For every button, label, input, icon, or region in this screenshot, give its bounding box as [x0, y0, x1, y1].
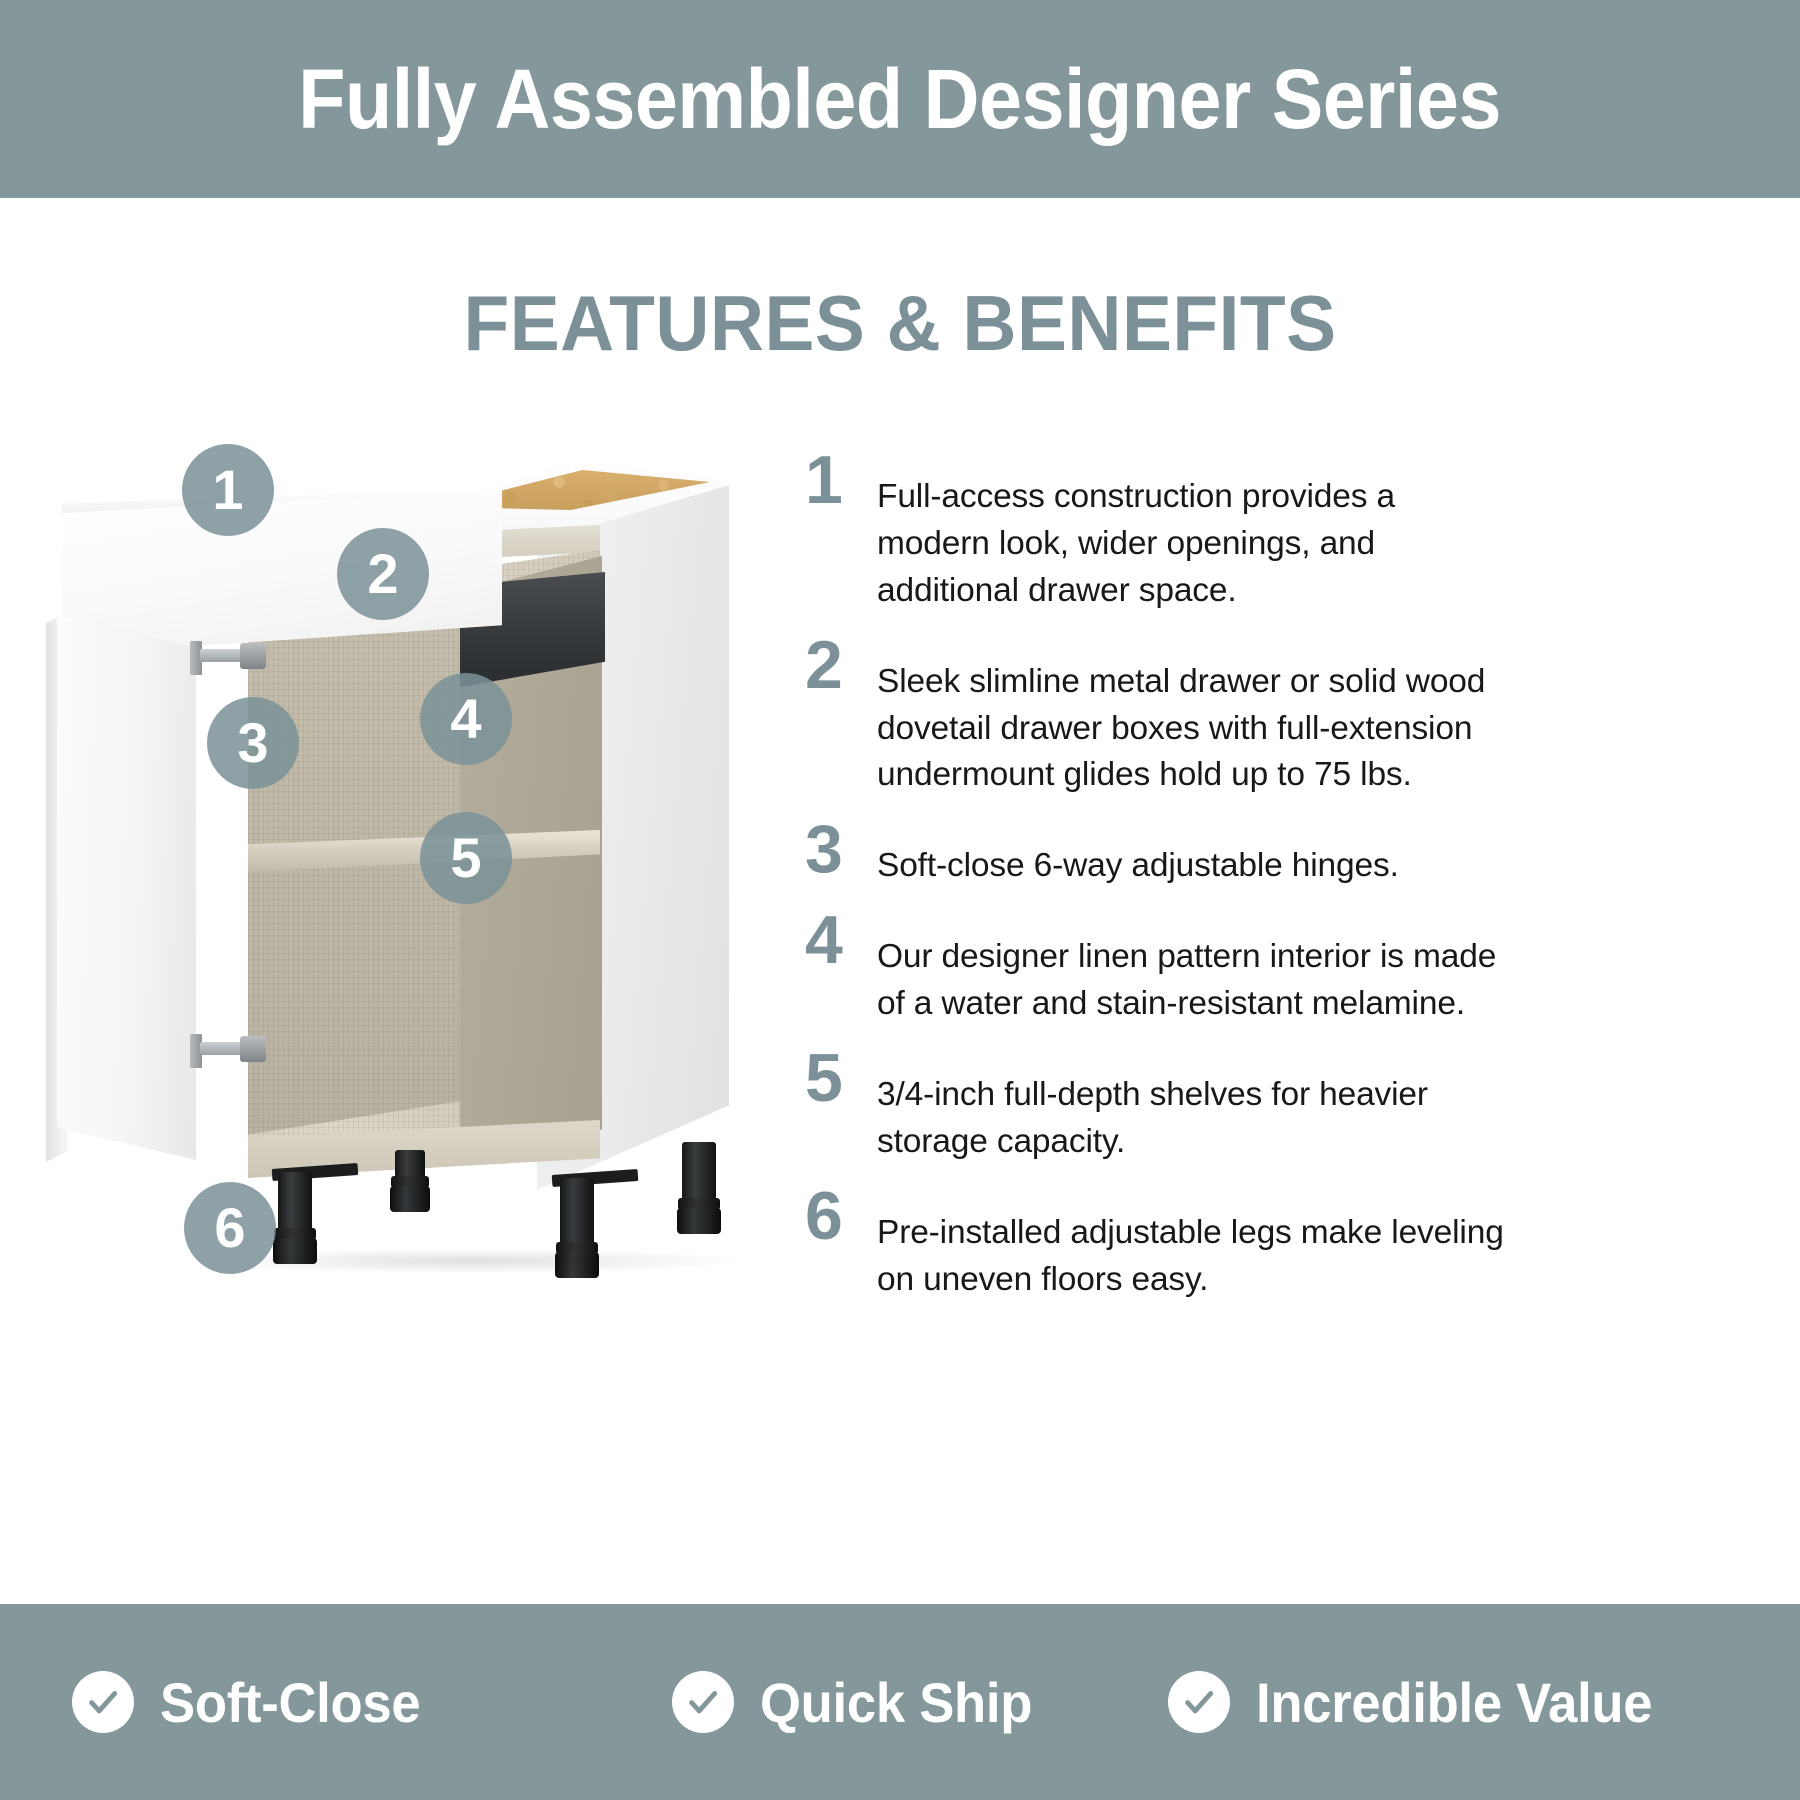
check-circle-icon	[672, 1671, 734, 1733]
feature-number: 5	[805, 1050, 877, 1105]
feature-item-6: 6 Pre-installed adjustable legs make lev…	[805, 1188, 1505, 1304]
cabinet-door-panel	[48, 615, 196, 1160]
feature-number: 2	[805, 637, 877, 692]
feature-item-5: 5 3/4-inch full-depth shelves for heavie…	[805, 1050, 1505, 1166]
floor-shadow	[190, 1248, 750, 1274]
feature-text: 3/4-inch full-depth shelves for heavier …	[877, 1050, 1505, 1166]
header-title: Fully Assembled Designer Series	[299, 57, 1502, 141]
feature-text: Pre-installed adjustable legs make level…	[877, 1188, 1505, 1304]
feature-text: Soft-close 6-way adjustable hinges.	[877, 821, 1505, 890]
feature-number: 1	[805, 452, 877, 507]
feature-text: Sleek slimline metal drawer or solid woo…	[877, 637, 1505, 800]
hinge-icon-bottom	[190, 1030, 268, 1070]
feature-item-4: 4 Our designer linen pattern interior is…	[805, 912, 1505, 1028]
feature-text: Full-access construction provides a mode…	[877, 452, 1505, 615]
hinge-icon-top	[190, 637, 268, 677]
footer-label: Quick Ship	[760, 1670, 1032, 1735]
callout-badge-5: 5	[420, 812, 512, 904]
footer-badge-soft-close: Soft-Close	[72, 1670, 437, 1735]
callout-badge-2: 2	[337, 528, 429, 620]
feature-item-1: 1 Full-access construction provides a mo…	[805, 452, 1505, 615]
feature-item-3: 3 Soft-close 6-way adjustable hinges.	[805, 821, 1505, 890]
section-title: FEATURES & BENEFITS	[36, 278, 1764, 369]
features-list: 1 Full-access construction provides a mo…	[805, 452, 1505, 1326]
check-circle-icon	[72, 1671, 134, 1733]
feature-number: 3	[805, 821, 877, 876]
callout-badge-1: 1	[182, 444, 274, 536]
feature-text: Our designer linen pattern interior is m…	[877, 912, 1505, 1028]
adjustable-leg	[682, 1142, 716, 1234]
feature-number: 6	[805, 1188, 877, 1243]
callout-badge-4: 4	[420, 673, 512, 765]
footer-bar: Soft-Close Quick Ship Incredible Value	[0, 1604, 1800, 1800]
callout-badge-3: 3	[207, 697, 299, 789]
footer-badge-incredible-value: Incredible Value	[1168, 1670, 1678, 1735]
check-circle-icon	[1168, 1671, 1230, 1733]
feature-item-2: 2 Sleek slimline metal drawer or solid w…	[805, 637, 1505, 800]
footer-label: Incredible Value	[1256, 1670, 1652, 1735]
adjustable-leg	[395, 1150, 425, 1212]
footer-label: Soft-Close	[160, 1670, 420, 1735]
callout-badge-6: 6	[184, 1182, 276, 1274]
header-bar: Fully Assembled Designer Series	[0, 0, 1800, 198]
feature-number: 4	[805, 912, 877, 967]
footer-badge-quick-ship: Quick Ship	[672, 1670, 1050, 1735]
product-feature-infographic: Fully Assembled Designer Series FEATURES…	[0, 0, 1800, 1800]
